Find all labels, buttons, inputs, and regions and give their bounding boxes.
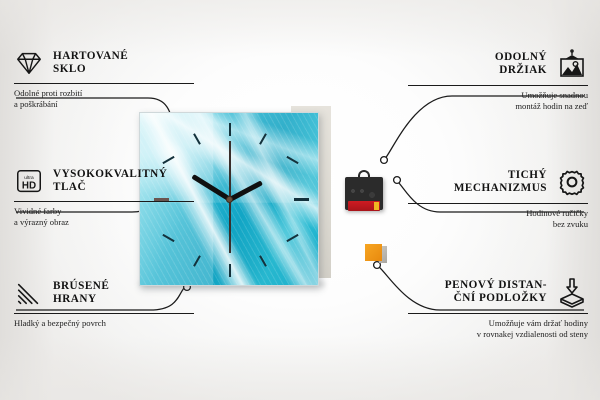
feature-silent-mechanism: TICHÝ MECHANIZMUS Hodinové ručičky bez z… (408, 166, 588, 229)
node-mechanism (394, 177, 401, 184)
diamond-icon (14, 48, 44, 78)
tick-11 (193, 133, 201, 144)
tick-10 (162, 156, 174, 164)
foam-pad-front (365, 244, 382, 261)
tick-8 (162, 234, 174, 242)
feature-title: VYSOKOKVALITNÝ TLAČ (53, 168, 167, 193)
clock-mechanism (345, 170, 383, 210)
tick-12 (229, 123, 231, 136)
framed-picture-hanging-icon (556, 48, 588, 80)
tick-4 (286, 234, 298, 242)
feature-desc-line2: montáž hodin na zeď (408, 101, 588, 112)
feature-polished-edges: BRÚSENÉ HRANY Hladký a bezpečný povrch (14, 278, 194, 329)
divider (408, 203, 588, 204)
feature-header: ODOLNÝ DRŽIAK (408, 48, 588, 80)
infographic-canvas: HARTOVANÉ SKLO Odolné proti rozbití a po… (0, 0, 600, 400)
feature-high-quality-print: ultra HD VYSOKOKVALITNÝ TLAČ Vividné far… (14, 166, 194, 227)
feature-desc-line2: a výrazný obraz (14, 217, 194, 228)
feature-desc-line2: v rovnakej vzdialenosti od steny (408, 329, 588, 340)
feature-desc-line1: Umožňuje vám držať hodiny (408, 318, 588, 329)
feature-header: BRÚSENÉ HRANY (14, 278, 194, 308)
svg-text:HD: HD (22, 181, 36, 192)
divider (14, 201, 194, 202)
feature-desc-line1: Hladký a bezpečný povrch (14, 318, 194, 329)
feature-desc-line2: bez zvuku (408, 219, 588, 230)
feature-title: PENOVÝ DISTAN- ČNÍ PODLOŽKY (445, 279, 547, 304)
feature-desc-line1: Umožňuje snadnou (408, 90, 588, 101)
ultra-hd-badge-icon: ultra HD (14, 166, 44, 196)
tick-7 (193, 255, 201, 266)
center-cap (226, 196, 233, 203)
press-down-layers-icon (556, 276, 588, 308)
divider (14, 83, 194, 84)
battery-terminal (374, 202, 379, 210)
divider (408, 85, 588, 86)
mechanism-detail (348, 187, 380, 199)
tick-1 (259, 133, 267, 144)
tick-5 (259, 255, 267, 266)
tick-2 (286, 156, 298, 164)
tick-6 (229, 264, 231, 277)
feature-header: TICHÝ MECHANIZMUS (408, 166, 588, 198)
feature-desc-line1: Odolné proti rozbití (14, 88, 194, 99)
feature-title: ODOLNÝ DRŽIAK (495, 51, 547, 76)
feature-tempered-glass: HARTOVANÉ SKLO Odolné proti rozbití a po… (14, 48, 194, 109)
mechanism-body (345, 177, 383, 210)
tick-3 (294, 198, 309, 201)
battery (348, 201, 380, 211)
diagonal-lines-icon (14, 278, 44, 308)
foam-spacer-pad (365, 244, 389, 266)
node-holder (381, 157, 388, 164)
feature-durable-holder: ODOLNÝ DRŽIAK Umožňuje snadnou montáž ho… (408, 48, 588, 111)
feature-title: HARTOVANÉ SKLO (53, 50, 128, 75)
feature-header: HARTOVANÉ SKLO (14, 48, 194, 78)
feature-desc-line2: a poškrábání (14, 99, 194, 110)
feature-header: PENOVÝ DISTAN- ČNÍ PODLOŽKY (408, 276, 588, 308)
feature-desc-line1: Hodinové ručičky (408, 208, 588, 219)
feature-foam-spacers: PENOVÝ DISTAN- ČNÍ PODLOŽKY Umožňuje vám… (408, 276, 588, 339)
gear-icon (556, 166, 588, 198)
divider (14, 313, 194, 314)
feature-header: ultra HD VYSOKOKVALITNÝ TLAČ (14, 166, 194, 196)
feature-title: TICHÝ MECHANIZMUS (454, 169, 547, 194)
feature-title: BRÚSENÉ HRANY (53, 280, 109, 305)
divider (408, 313, 588, 314)
feature-desc-line1: Vividné farby (14, 206, 194, 217)
